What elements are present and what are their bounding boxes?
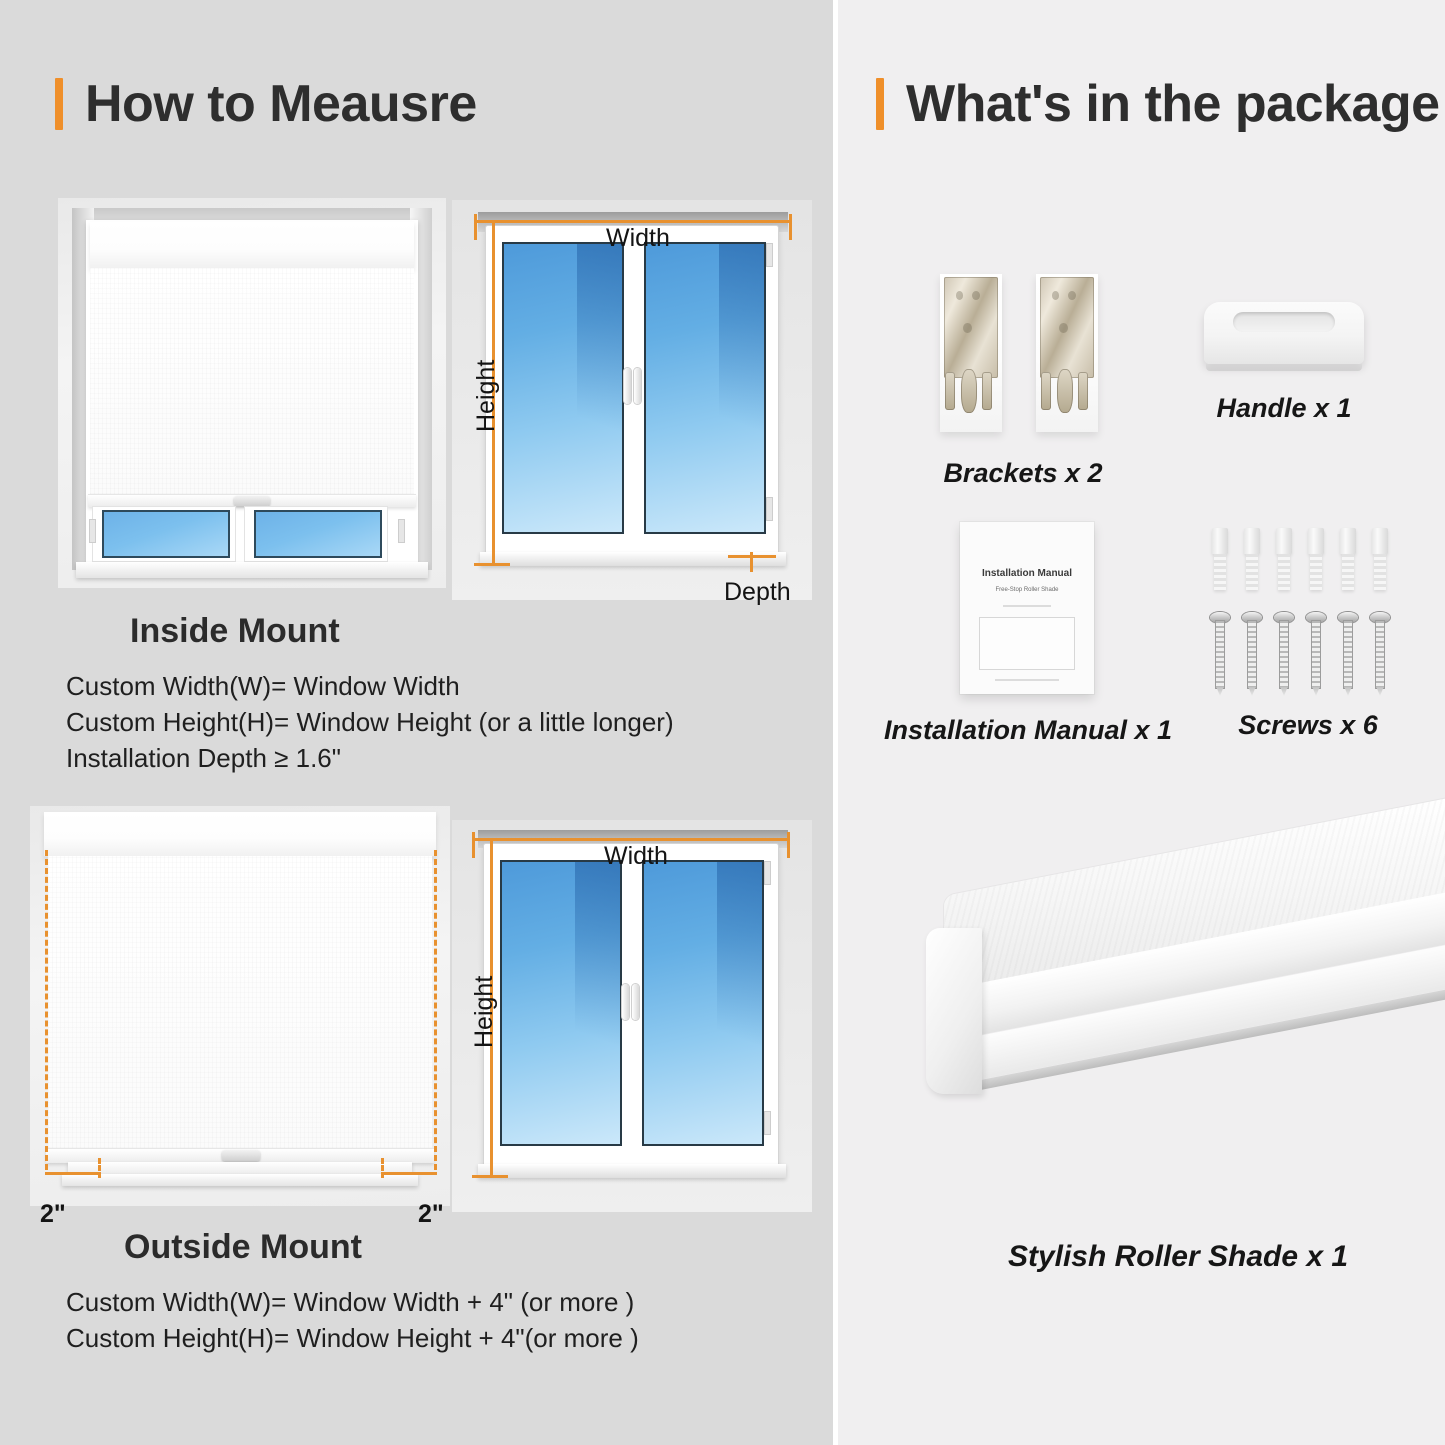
outside-measure-pane-right bbox=[642, 860, 764, 1146]
screw-icon bbox=[1338, 612, 1358, 688]
bracket-slot-left bbox=[945, 372, 955, 410]
outside-shade-pull-tab bbox=[222, 1150, 260, 1161]
screw-icon bbox=[1242, 612, 1262, 688]
manual-cover-footer bbox=[995, 679, 1059, 681]
wall-anchor-icon bbox=[1244, 528, 1260, 554]
bracket-metal-body bbox=[1040, 277, 1095, 378]
outside-measure-window: Width Height bbox=[452, 820, 812, 1212]
inside-mount-illustration bbox=[58, 198, 446, 588]
outside-window-apron bbox=[62, 1174, 418, 1186]
measure-pane-right bbox=[644, 242, 766, 534]
window-handle-right bbox=[634, 368, 641, 404]
manual-icon: Installation Manual Free-Stop Roller Sha… bbox=[960, 522, 1094, 694]
depth-dim-tick bbox=[750, 552, 753, 572]
overhang-dash-right bbox=[434, 850, 437, 1170]
overhang-left-label: 2" bbox=[40, 1200, 66, 1229]
width-dim-tick-left bbox=[474, 214, 477, 240]
package-title: What's in the package bbox=[876, 74, 1440, 134]
outside-mount-heading: Outside Mount bbox=[124, 1228, 362, 1267]
window-hinge-left bbox=[90, 520, 95, 542]
outside-height-label: Height bbox=[470, 976, 499, 1048]
outside-width-label: Width bbox=[604, 842, 668, 871]
window-edge-dash-left bbox=[98, 1158, 101, 1178]
bracket-icon bbox=[1036, 274, 1098, 432]
manual-cover-subtitle: Free-Stop Roller Shade bbox=[979, 587, 1076, 593]
package-contents-panel: What's in the package bbox=[838, 0, 1445, 1445]
outside-mount-line-2: Custom Height(H)= Window Height + 4"(or … bbox=[66, 1320, 639, 1356]
window-sill bbox=[76, 562, 428, 578]
window-edge-dash-right bbox=[381, 1158, 384, 1178]
overhang-right-label: 2" bbox=[418, 1200, 444, 1229]
wall-anchor-icon bbox=[1212, 528, 1228, 554]
screw-icon bbox=[1306, 612, 1326, 688]
outside-shade-fabric bbox=[48, 856, 432, 1148]
window-pane-left bbox=[102, 510, 230, 558]
shade-valance bbox=[90, 222, 414, 269]
height-dim-tick-bottom bbox=[474, 563, 510, 566]
outside-mount-line-1: Custom Width(W)= Window Width + 4" (or m… bbox=[66, 1284, 639, 1320]
outside-width-tick-right bbox=[787, 832, 790, 858]
bracket-slot-right bbox=[1078, 372, 1088, 410]
bracket-slot-center bbox=[1057, 369, 1073, 413]
shade-fabric bbox=[90, 268, 414, 494]
roller-shade-end-cap bbox=[926, 928, 982, 1094]
overhang-dash-left bbox=[45, 850, 48, 1170]
wall-anchor-icon bbox=[1340, 528, 1356, 554]
bracket-metal-body bbox=[944, 277, 999, 378]
measure-hinge-bottom-right bbox=[767, 498, 772, 520]
outside-measure-sill bbox=[478, 1164, 786, 1178]
depth-label: Depth bbox=[724, 578, 791, 607]
width-dim-line bbox=[474, 220, 792, 223]
inside-mount-line-1: Custom Width(W)= Window Width bbox=[66, 668, 674, 704]
screws-label: Screws x 6 bbox=[1188, 710, 1428, 741]
bracket-slot-right bbox=[982, 372, 992, 410]
handle-grip-slot bbox=[1233, 312, 1335, 332]
outside-width-dim-line bbox=[472, 838, 790, 841]
measure-hinge-top-right bbox=[767, 244, 772, 266]
inside-mount-heading: Inside Mount bbox=[130, 612, 340, 651]
outside-measure-pane-left bbox=[500, 860, 622, 1146]
wall-anchor-icon bbox=[1372, 528, 1388, 554]
shade-pull-tab bbox=[234, 496, 270, 506]
package-title-accent-bar bbox=[876, 78, 884, 130]
outside-hinge-top-right bbox=[765, 862, 770, 884]
outside-mount-illustration bbox=[30, 806, 450, 1206]
screw-icon bbox=[1210, 612, 1230, 688]
outside-width-tick-left bbox=[472, 832, 475, 858]
inside-mount-line-3: Installation Depth ≥ 1.6" bbox=[66, 740, 674, 776]
outside-hinge-bottom-right bbox=[765, 1112, 770, 1134]
inside-mount-text: Custom Width(W)= Window Width Custom Hei… bbox=[66, 668, 674, 776]
title-accent-bar bbox=[55, 78, 63, 130]
bracket-icon bbox=[940, 274, 1002, 432]
wall-anchor-icon bbox=[1308, 528, 1324, 554]
inside-measure-window: Width Height Depth bbox=[452, 200, 812, 600]
screw-icon bbox=[1370, 612, 1390, 688]
window-handle-left bbox=[624, 368, 631, 404]
width-label: Width bbox=[606, 224, 670, 253]
roller-shade-icon bbox=[908, 880, 1445, 1210]
how-to-measure-title-text: How to Meausre bbox=[85, 74, 477, 134]
outside-shade-valance bbox=[44, 812, 436, 857]
outside-mount-text: Custom Width(W)= Window Width + 4" (or m… bbox=[66, 1284, 639, 1356]
outside-height-tick-top bbox=[472, 838, 508, 841]
screw-icon bbox=[1274, 612, 1294, 688]
inside-mount-line-2: Custom Height(H)= Window Height (or a li… bbox=[66, 704, 674, 740]
handle-label: Handle x 1 bbox=[1154, 393, 1414, 424]
how-to-measure-panel: How to Meausre bbox=[0, 0, 833, 1445]
outside-height-tick-bottom bbox=[472, 1175, 508, 1178]
measure-pane-left bbox=[502, 242, 624, 534]
brackets-label: Brackets x 2 bbox=[898, 458, 1148, 489]
width-dim-tick-right bbox=[789, 214, 792, 240]
manual-label: Installation Manual x 1 bbox=[873, 715, 1183, 746]
outside-window-handle-right bbox=[632, 984, 639, 1020]
outside-window-handle-left bbox=[622, 984, 629, 1020]
roller-shade-label: Stylish Roller Shade x 1 bbox=[948, 1240, 1408, 1274]
height-label: Height bbox=[472, 360, 501, 432]
overhang-arrow-right bbox=[381, 1172, 437, 1175]
height-dim-tick-top bbox=[474, 220, 510, 223]
overhang-arrow-left bbox=[45, 1172, 101, 1175]
handle-base-strip bbox=[1206, 364, 1362, 371]
bracket-slot-left bbox=[1041, 372, 1051, 410]
manual-cover-title: Installation Manual bbox=[973, 568, 1080, 579]
infographic-page: How to Meausre bbox=[0, 0, 1445, 1445]
manual-cover-rule bbox=[1003, 605, 1051, 607]
handle-icon bbox=[1204, 302, 1364, 364]
how-to-measure-title: How to Meausre bbox=[55, 74, 477, 134]
package-title-text: What's in the package bbox=[906, 74, 1440, 134]
manual-cover-diagram bbox=[979, 617, 1076, 671]
wall-anchor-icon bbox=[1276, 528, 1292, 554]
window-pane-right bbox=[254, 510, 382, 558]
window-hinge-right bbox=[399, 520, 404, 542]
bracket-slot-center bbox=[961, 369, 977, 413]
